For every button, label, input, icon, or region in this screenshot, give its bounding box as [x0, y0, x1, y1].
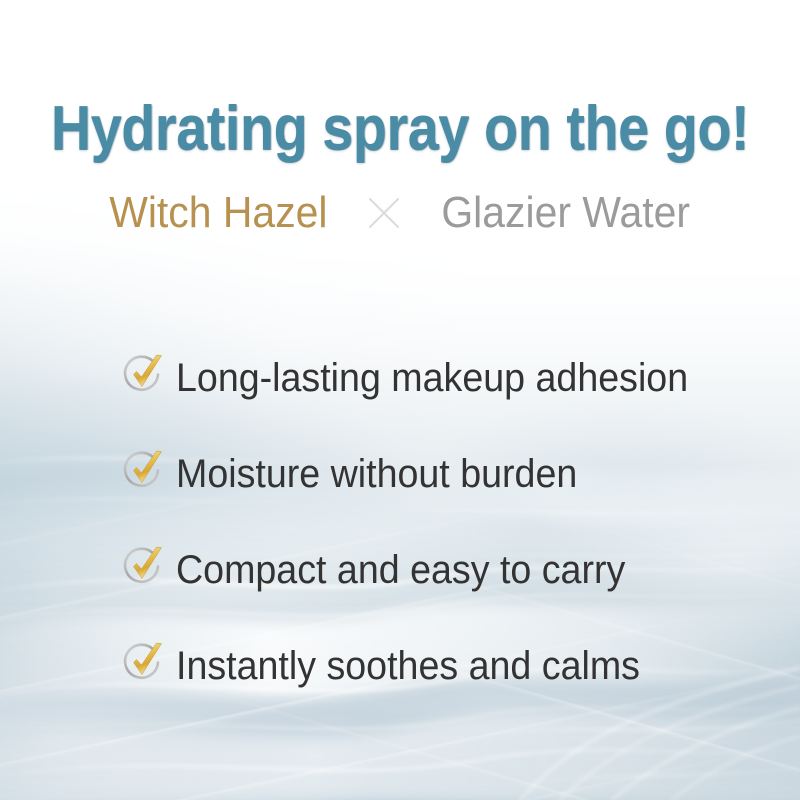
ingredient-secondary-label: Glazier Water [441, 190, 690, 236]
check-circle-icon [120, 449, 170, 499]
product-feature-banner: Hydrating spray on the go! Witch Hazel G… [0, 0, 800, 800]
list-item-label: Moisture without burden [176, 452, 577, 496]
list-item-label: Instantly soothes and calms [176, 644, 640, 688]
cross-separator-icon [336, 191, 432, 235]
page-title: Hydrating spray on the go! [40, 98, 760, 160]
check-circle-icon [120, 353, 170, 403]
list-item-label: Compact and easy to carry [176, 548, 625, 592]
benefits-list: Long-lasting makeup adhesion Moisture wi… [120, 330, 780, 714]
list-item: Long-lasting makeup adhesion [120, 330, 780, 426]
list-item: Instantly soothes and calms [120, 618, 780, 714]
list-item: Moisture without burden [120, 426, 780, 522]
list-item: Compact and easy to carry [120, 522, 780, 618]
check-circle-icon [120, 641, 170, 691]
ingredient-primary-label: Witch Hazel [109, 190, 327, 236]
list-item-label: Long-lasting makeup adhesion [176, 356, 688, 400]
ingredient-pair: Witch Hazel Glazier Water [0, 190, 800, 236]
check-circle-icon [120, 545, 170, 595]
